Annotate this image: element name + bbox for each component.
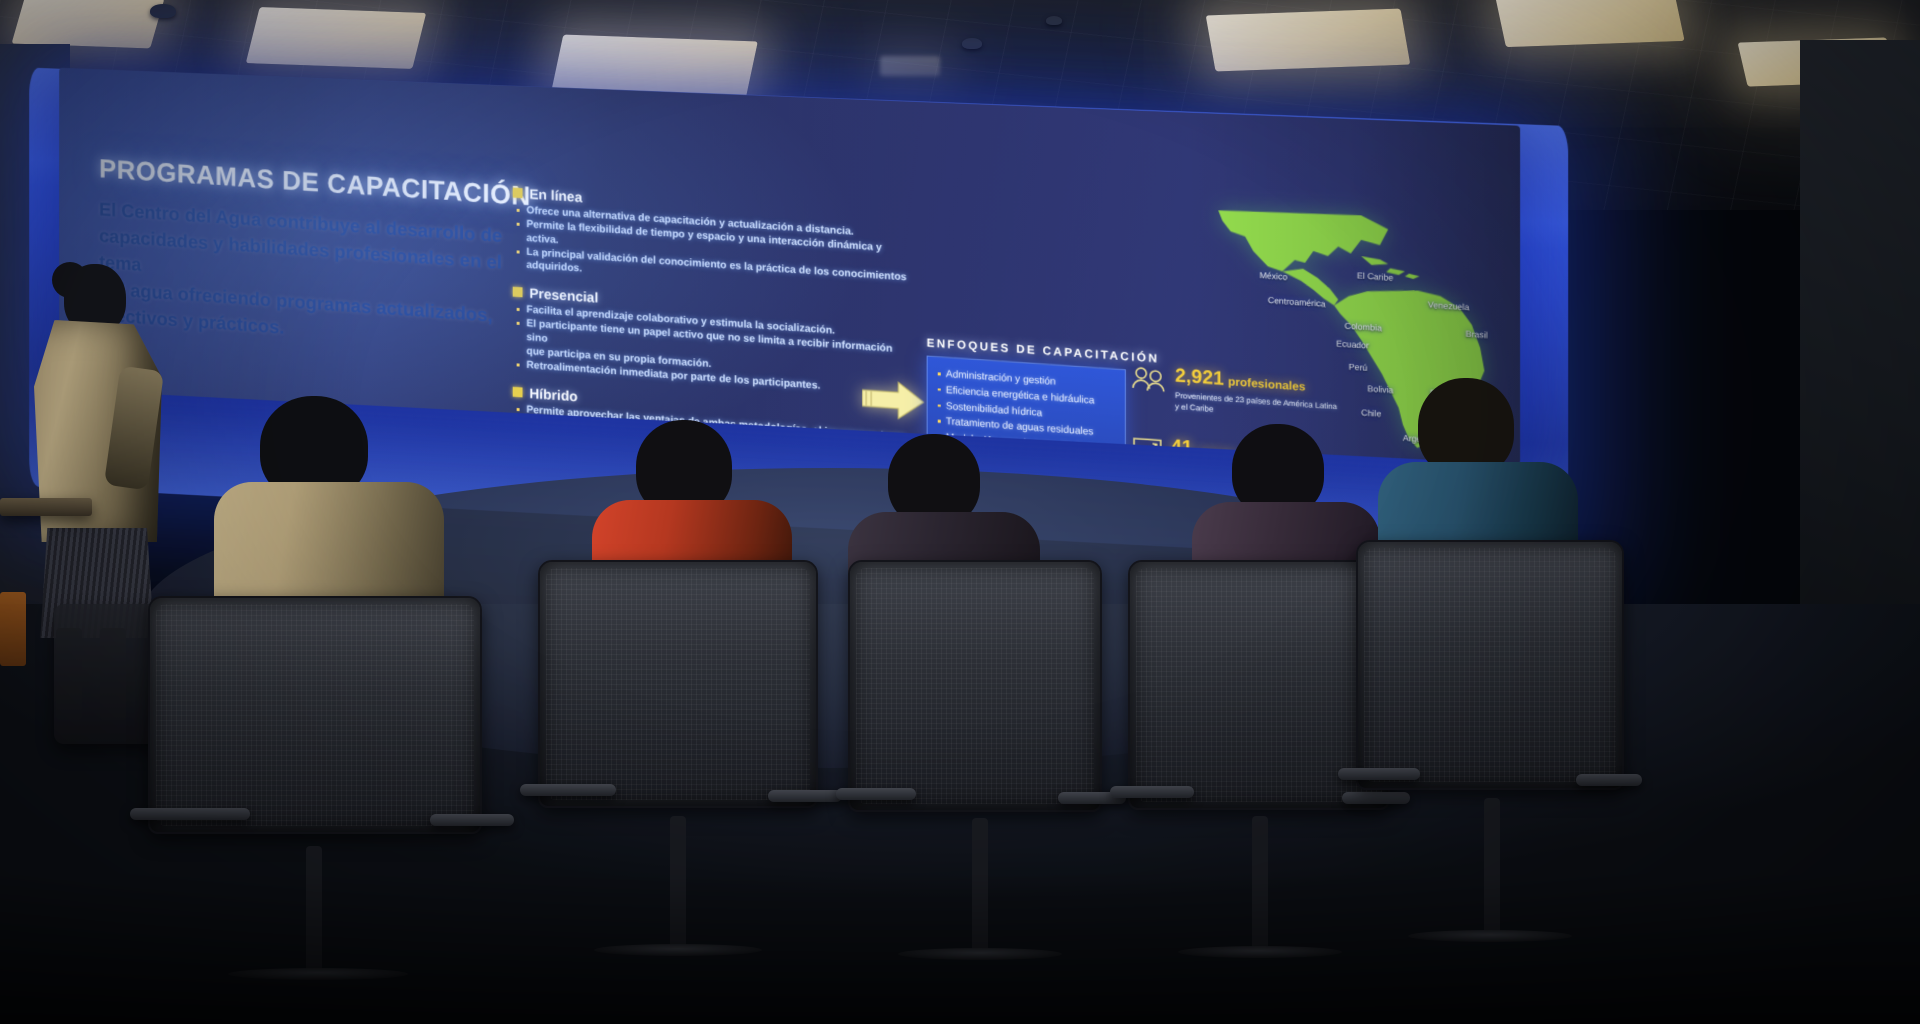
chair-backrest (538, 560, 818, 808)
ceiling-speaker-icon (1046, 16, 1062, 25)
ceiling-speaker-icon (150, 4, 176, 18)
chair-backrest (848, 560, 1102, 812)
chair-armrest (1338, 768, 1420, 780)
modality-heading: En línea (529, 186, 582, 205)
people-icon (1132, 365, 1167, 397)
chair-base (228, 968, 408, 980)
chair-armrest (768, 790, 842, 802)
chair-stem (306, 846, 322, 976)
audience-chair (520, 560, 840, 990)
chair-armrest (1576, 774, 1642, 786)
chair-armrest (430, 814, 514, 826)
chair-armrest (130, 808, 250, 820)
bullet-square-icon (513, 188, 523, 199)
audience-chair (130, 596, 502, 1024)
bullet-square-icon (513, 386, 523, 397)
modality-group: En línea Ofrece una alternativa de capac… (513, 185, 911, 299)
floor-object (0, 592, 26, 666)
audience-chair (836, 560, 1126, 990)
ceiling-speaker-icon (962, 38, 982, 49)
ceiling-light-panel (1495, 0, 1684, 47)
chair-armrest (520, 784, 616, 796)
chair-armrest (836, 788, 916, 800)
audience-chair (1338, 540, 1648, 980)
bullet-square-icon (513, 287, 523, 298)
ceiling-light-panel (12, 0, 165, 48)
chair-stem (972, 818, 988, 956)
map-label: Brasil (1466, 329, 1488, 341)
chair-base (898, 948, 1062, 960)
modality-heading: Presencial (529, 285, 598, 306)
chair-mesh (546, 568, 810, 800)
chair-stem (670, 816, 686, 952)
side-table (0, 498, 92, 516)
map-label: Perú (1349, 361, 1368, 372)
modality-group: Presencial Facilita el aprendizaje colab… (513, 284, 911, 400)
chair-base (1178, 946, 1342, 958)
arrow-right-icon (862, 378, 924, 428)
chair-mesh (856, 568, 1094, 804)
ceiling-light-panel (246, 7, 426, 69)
chair-base (594, 944, 762, 956)
modality-heading: Híbrido (529, 385, 577, 404)
map-label: México (1260, 270, 1288, 282)
ceiling-light-panel (1206, 9, 1411, 72)
chair-backrest (1356, 540, 1624, 790)
chair-armrest (1110, 786, 1194, 798)
map-label: Ecuador (1336, 338, 1369, 350)
ceiling-light-panel (880, 56, 940, 76)
training-room-photo: PROGRAMAS DE CAPACITACIÓN El Centro del … (0, 0, 1920, 1024)
chair-backrest (148, 596, 482, 834)
chair-mesh (156, 604, 474, 826)
chair-mesh (1364, 548, 1616, 782)
chair-stem (1484, 798, 1500, 938)
presenter-silhouette (20, 252, 200, 642)
chair-stem (1252, 816, 1268, 954)
chair-base (1408, 930, 1572, 942)
